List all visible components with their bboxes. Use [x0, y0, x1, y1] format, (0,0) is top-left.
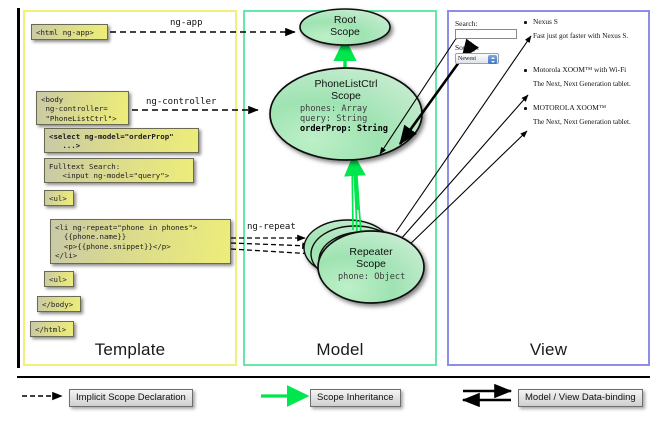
- legend-item-model-view-data-binding: Model / View Data-binding: [518, 389, 643, 407]
- legend-item-scope-inheritance: Scope Inheritance: [310, 389, 401, 407]
- legend-arrows: [0, 0, 661, 425]
- diagram-canvas: Template Model View <html ng-app> <body …: [0, 0, 661, 425]
- legend-item-implicit-scope-declaration: Implicit Scope Declaration: [69, 389, 193, 407]
